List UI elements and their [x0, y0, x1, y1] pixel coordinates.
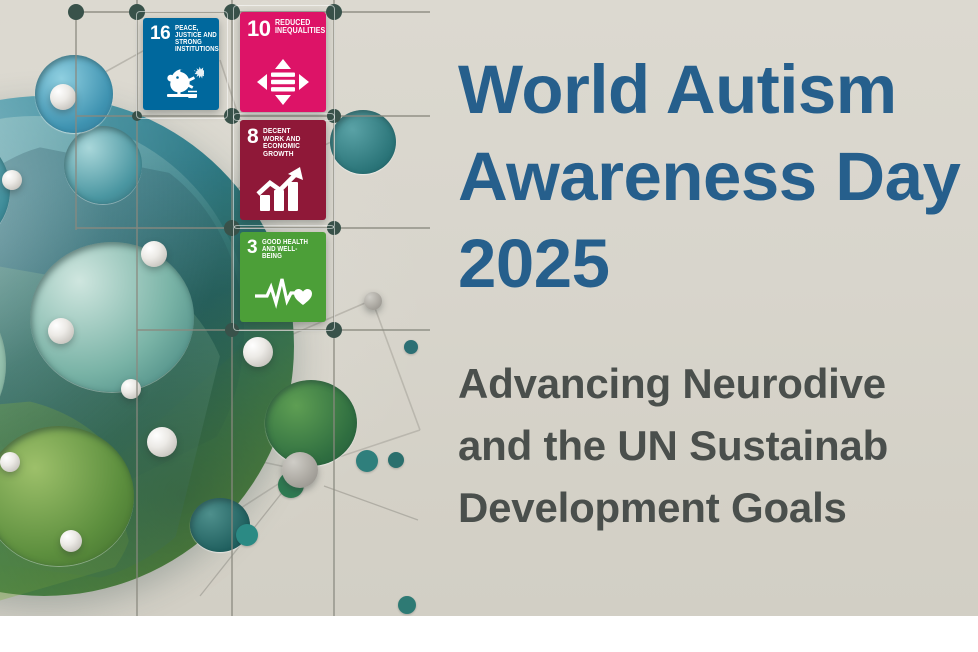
sdg-card-10-reduced-inequalities[interactable]: 10 REDUCED INEQUALITIES: [240, 12, 326, 112]
sdg-card-number: 3: [247, 239, 257, 256]
sdg-card-title: REDUCED INEQUALITIES: [275, 19, 325, 35]
title-line-1: World Autism: [458, 46, 978, 133]
subtitle-line-2: and the UN Sustainab: [458, 415, 978, 477]
banner-artwork: 16 PEACE, JUSTICE AND STRONG INSTITUTION…: [0, 0, 978, 616]
sdg-card-title: DECENT WORK AND ECONOMIC GROWTH: [263, 127, 313, 158]
sdg-card-8-decent-work[interactable]: 8 DECENT WORK AND ECONOMIC GROWTH: [240, 120, 326, 220]
subtitle-line-3: Development Goals: [458, 477, 978, 539]
sdg-card-title: GOOD HEALTH AND WELL-BEING: [262, 239, 313, 260]
page-subtitle: Advancing Neurodive and the UN Sustainab…: [458, 353, 978, 539]
sdg-card-number: 10: [247, 19, 270, 39]
sdg-card-3-good-health[interactable]: 3 GOOD HEALTH AND WELL-BEING: [240, 232, 326, 322]
title-line-2: Awareness Day: [458, 133, 978, 220]
sdg-card-title: PEACE, JUSTICE AND STRONG INSTITUTIONS: [175, 25, 219, 54]
sdg-card-number: 8: [247, 127, 258, 146]
heartbeat-line-with-heart-icon: [240, 270, 326, 316]
page-title: World Autism Awareness Day 2025: [458, 46, 978, 307]
title-line-3: 2025: [458, 220, 978, 307]
growth-bar-chart-icon: [240, 162, 326, 216]
sdg-card-16-peace-justice[interactable]: 16 PEACE, JUSTICE AND STRONG INSTITUTION…: [143, 18, 219, 110]
equals-with-arrows-icon: [240, 56, 326, 108]
poster-canvas: 16 PEACE, JUSTICE AND STRONG INSTITUTION…: [0, 0, 978, 652]
bottom-white-strip: [0, 616, 978, 652]
subtitle-line-1: Advancing Neurodive: [458, 353, 978, 415]
text-block: World Autism Awareness Day 2025 Advancin…: [458, 0, 978, 616]
illustration-paper-cut-sphere-network: 16 PEACE, JUSTICE AND STRONG INSTITUTION…: [0, 0, 430, 616]
dove-and-gavel-icon: [143, 62, 219, 106]
sdg-card-number: 16: [150, 25, 170, 42]
